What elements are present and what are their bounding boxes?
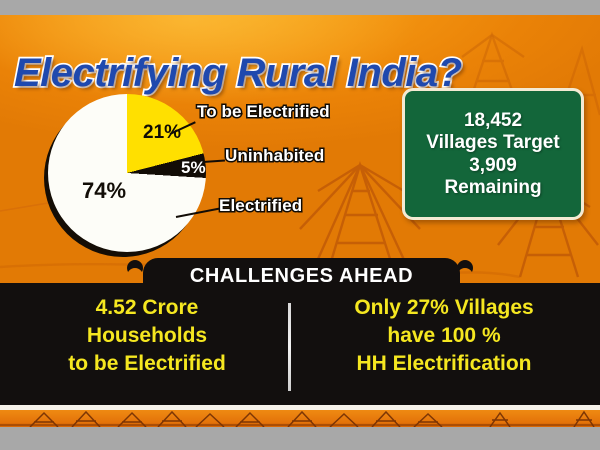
bottom-pylon-silhouette-icon xyxy=(0,410,600,427)
challenge-villages-stat: Only 27% Villages have 100 % HH Electrif… xyxy=(300,294,588,378)
target-villages-count: 18,452 xyxy=(464,110,522,131)
infographic-canvas: Electrifying Rural India? 21% 5% 74% To … xyxy=(0,0,600,450)
villages-line-1: Only 27% Villages xyxy=(300,294,588,322)
villages-line-3: HH Electrification xyxy=(300,350,588,378)
villages-line-2: have 100 % xyxy=(300,322,588,350)
remaining-villages-count: 3,909 xyxy=(469,155,517,176)
challenges-divider xyxy=(288,303,291,391)
target-villages-label: Villages Target xyxy=(426,132,559,153)
pie-slice-value-uninhabited: 5% xyxy=(181,158,206,178)
bottom-orange-strip xyxy=(0,410,600,427)
tab-notch-left xyxy=(127,268,143,284)
top-gray-margin xyxy=(0,0,600,15)
remaining-villages-label: Remaining xyxy=(444,177,541,198)
pie-label-electrified: Electrified xyxy=(219,196,302,216)
households-line-2: Households xyxy=(16,322,278,350)
page-title: Electrifying Rural India? xyxy=(14,53,454,93)
households-line-3: to be Electrified xyxy=(16,350,278,378)
pie-label-to-be-electrified: To be Electrified xyxy=(197,102,330,122)
villages-target-box: 18,452 Villages Target 3,909 Remaining xyxy=(402,88,584,220)
pie-slice-value-electrified: 74% xyxy=(82,178,126,204)
pie-chart: 21% 5% 74% xyxy=(48,94,206,252)
challenge-households-stat: 4.52 Crore Households to be Electrified xyxy=(16,294,278,378)
pie-label-uninhabited: Uninhabited xyxy=(225,146,324,166)
pie-slice-value-to-be-electrified: 21% xyxy=(143,122,181,144)
footer-gray-margin xyxy=(0,427,600,450)
households-line-1: 4.52 Crore xyxy=(16,294,278,322)
